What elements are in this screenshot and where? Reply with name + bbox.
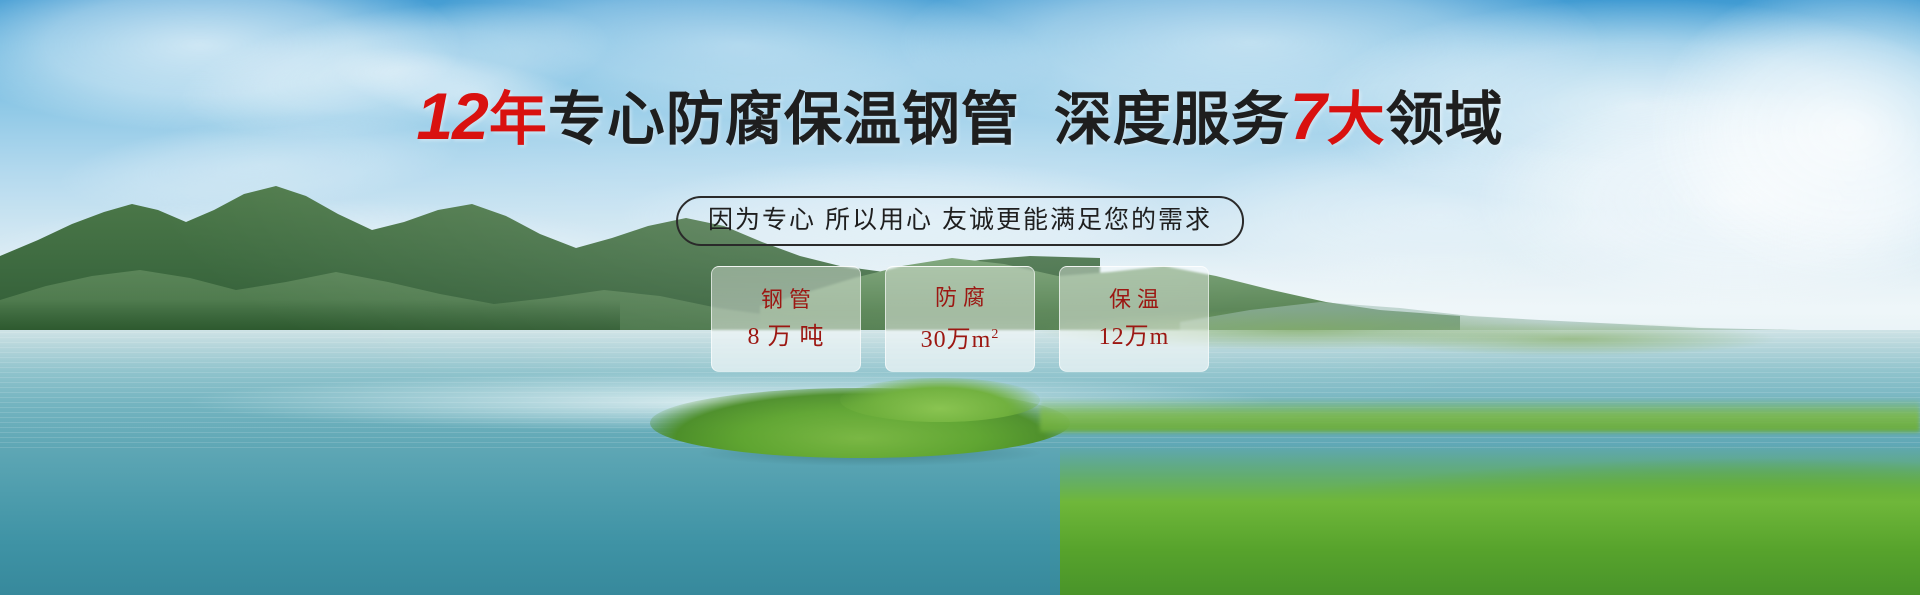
- banner-content: 12年专心防腐保温钢管深度服务7大领域 因为专心 所以用心 友诚更能满足您的需求…: [0, 0, 1920, 595]
- promo-banner: 12年专心防腐保温钢管深度服务7大领域 因为专心 所以用心 友诚更能满足您的需求…: [0, 0, 1920, 595]
- headline-main-third: 领域: [1386, 87, 1504, 152]
- stat-card-value-main: 30万m: [921, 327, 992, 353]
- stat-card-label: 防腐: [929, 286, 991, 310]
- headline-fields-number: 7: [1290, 79, 1327, 153]
- stat-card-value: 8 万 吨: [748, 324, 825, 350]
- headline-main-first: 专心防腐保温钢管: [548, 87, 1020, 152]
- stat-card-value: 12万m: [1099, 324, 1170, 350]
- stat-card-steel-pipe[interactable]: 钢管 8 万 吨: [711, 266, 861, 372]
- stat-card-value-main: 12万m: [1099, 324, 1170, 350]
- headline: 12年专心防腐保温钢管深度服务7大领域: [0, 82, 1920, 154]
- stat-card-value-superscript: 2: [991, 327, 999, 342]
- headline-years-number: 12: [416, 79, 488, 153]
- stat-card-anticorrosion[interactable]: 防腐 30万m2: [885, 266, 1035, 372]
- stat-card-label: 保温: [1103, 288, 1165, 312]
- stat-card-insulation[interactable]: 保温 12万m: [1059, 266, 1209, 372]
- stat-card-group: 钢管 8 万 吨 防腐 30万m2 保温 12万m: [711, 266, 1209, 372]
- stat-card-value: 30万m2: [921, 322, 1000, 353]
- headline-fields-unit: 大: [1327, 87, 1386, 152]
- headline-main-second: 深度服务: [1054, 87, 1290, 152]
- subtitle-text: 因为专心 所以用心 友诚更能满足您的需求: [708, 206, 1212, 234]
- headline-years-unit: 年: [489, 87, 548, 152]
- stat-card-label: 钢管: [755, 288, 817, 312]
- subtitle-pill: 因为专心 所以用心 友诚更能满足您的需求: [676, 196, 1244, 246]
- stat-card-value-main: 8 万 吨: [748, 324, 825, 350]
